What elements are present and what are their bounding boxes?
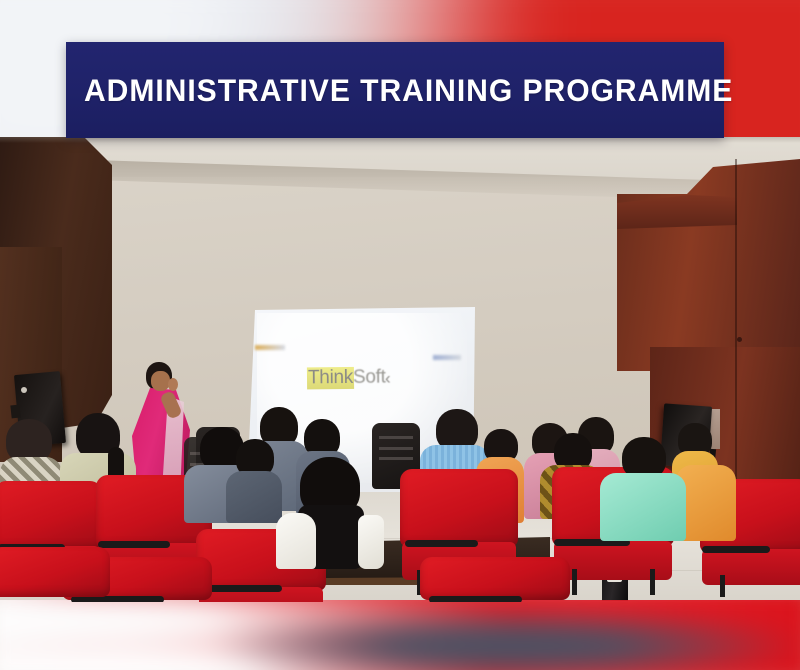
presenter-face [151, 371, 170, 391]
logo-text-soft: Soft [353, 367, 386, 389]
right-panel-screw [737, 337, 742, 342]
title-banner: ADMINISTRATIVE TRAINING PROGRAMME [66, 42, 724, 138]
audience-chair [420, 557, 570, 602]
left-speaker-bracket [10, 405, 20, 419]
left-speaker-mount [21, 387, 27, 393]
logo-chevron-icon: ‹ [385, 369, 391, 389]
page-title: ADMINISTRATIVE TRAINING PROGRAMME [84, 72, 733, 109]
audience-member [276, 457, 384, 569]
seminar-hall-photo: Think Soft ‹ [0, 137, 800, 602]
audience-chair [0, 547, 110, 602]
presenter-hand [168, 378, 178, 391]
bottom-blurred-band [0, 600, 800, 670]
bottom-band-gradient [0, 600, 800, 670]
slide-header-right [433, 355, 461, 360]
thinksoft-logo: Think Soft ‹ [307, 367, 386, 390]
slide-header-left [255, 345, 285, 350]
poster-canvas: Think Soft ‹ [0, 0, 800, 670]
logo-text-think: Think [307, 367, 354, 389]
audience-member [600, 437, 686, 541]
audience-member [226, 439, 282, 523]
